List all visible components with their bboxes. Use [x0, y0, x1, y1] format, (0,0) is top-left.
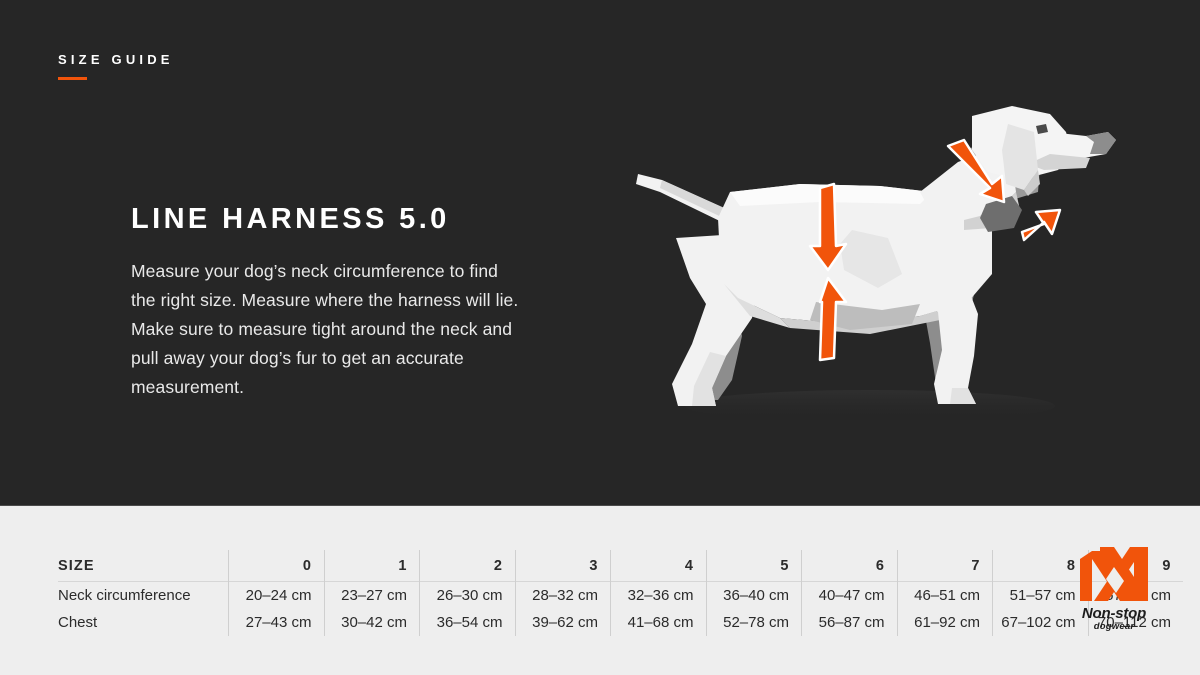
- table-row-neck-circumference: Neck circumference 20–24 cm 23–27 cm 26–…: [58, 582, 1183, 610]
- intro-paragraph: Measure your dog’s neck circumference to…: [131, 257, 526, 402]
- dog-front-leg-near: [916, 274, 978, 404]
- chest-value-1: 30–42 cm: [324, 609, 420, 636]
- neck-value-1: 23–27 cm: [324, 582, 420, 610]
- table-header-size: SIZE: [58, 550, 229, 582]
- row-label-chest: Chest: [58, 609, 229, 636]
- eyebrow-label: SIZE GUIDE: [58, 52, 174, 67]
- table-header-size-3: 3: [515, 550, 611, 582]
- size-table-section: SIZE 0 1 2 3 4 5 6 7 8 9 Neck circumfere…: [0, 505, 1200, 675]
- chest-value-3: 39–62 cm: [515, 609, 611, 636]
- hero-section: SIZE GUIDE LINE HARNESS 5.0 Measure your…: [0, 0, 1200, 505]
- table-header-row: SIZE 0 1 2 3 4 5 6 7 8 9: [58, 550, 1183, 582]
- ground-shadow: [685, 390, 1055, 422]
- chest-value-7: 61–92 cm: [897, 609, 993, 636]
- neck-value-2: 26–30 cm: [420, 582, 516, 610]
- eyebrow-underline: [58, 77, 87, 80]
- neck-value-5: 36–40 cm: [706, 582, 802, 610]
- chest-value-8: 67–102 cm: [993, 609, 1089, 636]
- row-label-neck-circumference: Neck circumference: [58, 582, 229, 610]
- chest-value-0: 27–43 cm: [229, 609, 325, 636]
- table-header-size-0: 0: [229, 550, 325, 582]
- non-stop-logo-icon: [1078, 545, 1150, 603]
- chest-value-2: 36–54 cm: [420, 609, 516, 636]
- table-header-size-5: 5: [706, 550, 802, 582]
- chest-value-4: 41–68 cm: [611, 609, 707, 636]
- table-header-size-1: 1: [324, 550, 420, 582]
- page-title: LINE HARNESS 5.0: [131, 203, 450, 236]
- neck-value-3: 28–32 cm: [515, 582, 611, 610]
- neck-value-8: 51–57 cm: [993, 582, 1089, 610]
- neck-value-7: 46–51 cm: [897, 582, 993, 610]
- dog-illustration: [620, 88, 1120, 428]
- brand-logo: Non-stop dogwear: [1078, 545, 1150, 635]
- table-header-size-4: 4: [611, 550, 707, 582]
- table-header-size-2: 2: [420, 550, 516, 582]
- size-guide-page: SIZE GUIDE LINE HARNESS 5.0 Measure your…: [0, 0, 1200, 675]
- chest-value-6: 56–87 cm: [802, 609, 898, 636]
- brand-tagline: dogwear: [1078, 621, 1150, 633]
- chest-value-5: 52–78 cm: [706, 609, 802, 636]
- table-header-size-8: 8: [993, 550, 1089, 582]
- table-header-size-7: 7: [897, 550, 993, 582]
- neck-value-6: 40–47 cm: [802, 582, 898, 610]
- table-row-chest: Chest 27–43 cm 30–42 cm 36–54 cm 39–62 c…: [58, 609, 1183, 636]
- table-header-size-6: 6: [802, 550, 898, 582]
- size-table: SIZE 0 1 2 3 4 5 6 7 8 9 Neck circumfere…: [58, 550, 1183, 636]
- neck-value-0: 20–24 cm: [229, 582, 325, 610]
- neck-value-4: 32–36 cm: [611, 582, 707, 610]
- brand-name: Non-stop: [1078, 606, 1150, 621]
